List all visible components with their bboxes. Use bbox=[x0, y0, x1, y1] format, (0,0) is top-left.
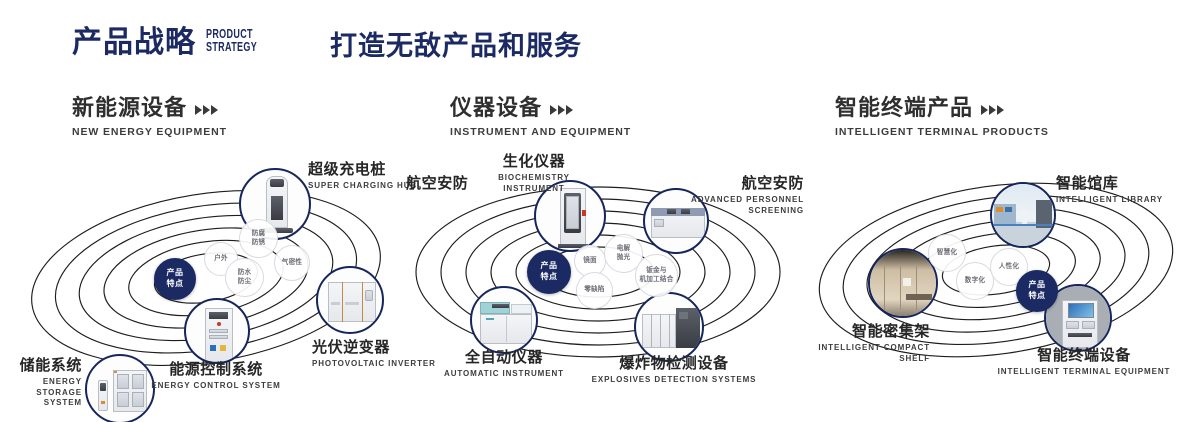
node-label-en: BIOCHEMISTRY INSTRUMENT bbox=[474, 173, 594, 195]
feature-line2: 特点 bbox=[541, 272, 558, 283]
node-circle-energy-control-system[interactable] bbox=[184, 298, 250, 364]
section-heading-new-energy: 新能源设备 NEW ENERGY EQUIPMENT bbox=[72, 97, 227, 138]
feature-line2: 抛光 bbox=[617, 254, 631, 263]
feature-line1: 钣金与 bbox=[646, 267, 666, 276]
panel-instrument-and-equipment: 航空安防 生化仪器 BIOCHEMISTRY INSTRUMENT bbox=[398, 150, 798, 416]
node-label-cn: 航空安防 bbox=[674, 176, 804, 193]
node-label-cn: 爆炸物检测设备 bbox=[584, 356, 764, 373]
product-photo-automatic-instrument bbox=[472, 288, 536, 352]
node-label-intelligent-terminal-equipment: 智能终端设备 INTELLIGENT TERMINAL EQUIPMENT bbox=[994, 348, 1174, 378]
section-heading-instrument: 仪器设备 INSTRUMENT AND EQUIPMENT bbox=[450, 97, 631, 138]
node-label-cn: 储能系统 bbox=[0, 358, 82, 375]
section-heading-en: INSTRUMENT AND EQUIPMENT bbox=[450, 126, 631, 138]
node-label-cn: 航空安防 bbox=[406, 176, 468, 193]
feature-line1: 防水 bbox=[238, 269, 252, 278]
panel-intelligent-terminal-products: 智能馆库 INTELLIGENT LIBRARY 智能密集架 INTELLIGE… bbox=[800, 150, 1200, 416]
feature-line1: 零缺陷 bbox=[584, 286, 604, 295]
feature-line1: 人性化 bbox=[999, 263, 1019, 272]
node-circle-intelligent-library[interactable] bbox=[990, 182, 1056, 248]
node-label-cn: 智能密集架 bbox=[790, 324, 930, 341]
node-circle-automatic-instrument[interactable] bbox=[470, 286, 538, 354]
node-label-en: INTELLIGENT LIBRARY bbox=[1056, 195, 1163, 206]
feature-bubble-primary[interactable]: 产品 特点 bbox=[1016, 270, 1058, 312]
product-photo-intelligent-library bbox=[992, 184, 1054, 246]
node-label-en: ENERGY CONTROL SYSTEM bbox=[126, 381, 306, 392]
node-label-en: ADVANCED PERSONNEL SCREENING bbox=[674, 195, 804, 217]
node-label-cn: 生化仪器 bbox=[474, 154, 594, 171]
section-heading-cn: 仪器设备 bbox=[450, 97, 542, 119]
feature-line1: 产品 bbox=[167, 268, 184, 279]
feature-bubble-airtightness[interactable]: 气密性 bbox=[274, 245, 310, 281]
feature-bubble-sheet-metal-machining[interactable]: 钣金与 机加工结合 bbox=[635, 254, 678, 297]
node-label-cn: 智能馆库 bbox=[1056, 176, 1163, 193]
feature-bubble-digitalization[interactable]: 数字化 bbox=[956, 262, 994, 300]
product-photo-photovoltaic-inverter bbox=[318, 268, 382, 332]
node-label-intelligent-library: 智能馆库 INTELLIGENT LIBRARY bbox=[1056, 176, 1163, 206]
section-heading-en: NEW ENERGY EQUIPMENT bbox=[72, 126, 227, 138]
node-label-en: EXPLOSIVES DETECTION SYSTEMS bbox=[584, 375, 764, 386]
feature-bubble-waterproof-dustproof[interactable]: 防水 防尘 bbox=[225, 258, 264, 297]
feature-line2: 特点 bbox=[1029, 291, 1046, 302]
product-photo-explosives-detection-systems bbox=[636, 294, 702, 360]
node-circle-intelligent-compact-shelf[interactable] bbox=[868, 248, 938, 318]
product-photo-energy-control-system bbox=[186, 300, 248, 362]
node-label-en: INTELLIGENT COMPACT SHELF bbox=[790, 343, 930, 365]
feature-line1: 户外 bbox=[214, 255, 228, 264]
feature-line1: 防腐 bbox=[252, 230, 266, 239]
section-heading-cn: 智能终端产品 bbox=[835, 97, 973, 119]
node-label-automatic-instrument: 全自动仪器 AUTOMATIC INSTRUMENT bbox=[414, 350, 594, 380]
feature-line1: 电解 bbox=[617, 245, 631, 254]
chevron-right-icon bbox=[981, 102, 1004, 115]
node-label-en: AUTOMATIC INSTRUMENT bbox=[414, 369, 594, 380]
chevron-right-icon bbox=[195, 102, 218, 115]
feature-bubble-anti-corrosion[interactable]: 防腐 防锈 bbox=[239, 219, 278, 258]
feature-line2: 防尘 bbox=[238, 278, 252, 287]
node-circle-photovoltaic-inverter[interactable] bbox=[316, 266, 384, 334]
feature-line1: 镜面 bbox=[583, 257, 597, 266]
feature-bubble-zero-defect[interactable]: 零缺陷 bbox=[576, 272, 613, 309]
feature-line1: 数字化 bbox=[965, 277, 985, 286]
section-heading-en: INTELLIGENT TERMINAL PRODUCTS bbox=[835, 126, 1049, 138]
node-label-explosives-detection-systems: 爆炸物检测设备 EXPLOSIVES DETECTION SYSTEMS bbox=[584, 356, 764, 386]
poster-tagline: 打造无敌产品和服务 bbox=[330, 33, 582, 60]
feature-line1: 气密性 bbox=[282, 259, 302, 268]
feature-bubble-intelligence[interactable]: 智慧化 bbox=[928, 234, 966, 272]
node-label-cn: 能源控制系统 bbox=[126, 362, 306, 379]
poster-canvas: 产品战略 PRODUCT STRATEGY 打造无敌产品和服务 新能源设备 NE… bbox=[0, 0, 1200, 422]
feature-bubble-primary[interactable]: 产品 特点 bbox=[527, 250, 571, 294]
poster-title-cn: 产品战略 bbox=[72, 28, 196, 58]
panel-new-energy-equipment: 储能系统 ENERGY STORAGE SYSTEM 超级充电桩 SUPER C… bbox=[6, 150, 406, 416]
node-label-biochemistry-instrument: 生化仪器 BIOCHEMISTRY INSTRUMENT bbox=[474, 154, 594, 194]
poster-title-en: PRODUCT STRATEGY bbox=[206, 29, 257, 58]
node-label-intelligent-compact-shelf: 智能密集架 INTELLIGENT COMPACT SHELF bbox=[790, 324, 930, 364]
feature-line1: 产品 bbox=[1029, 280, 1046, 291]
node-label-advanced-personnel-screening: 航空安防 ADVANCED PERSONNEL SCREENING bbox=[674, 176, 804, 216]
node-label-energy-control-system: 能源控制系统 ENERGY CONTROL SYSTEM bbox=[126, 362, 306, 392]
feature-line1: 产品 bbox=[541, 261, 558, 272]
feature-bubble-primary[interactable]: 产品 特点 bbox=[154, 258, 196, 300]
node-label-en: INTELLIGENT TERMINAL EQUIPMENT bbox=[994, 367, 1174, 378]
section-heading-intelligent: 智能终端产品 INTELLIGENT TERMINAL PRODUCTS bbox=[835, 97, 1049, 138]
poster-title: 产品战略 PRODUCT STRATEGY bbox=[72, 28, 268, 58]
node-label-aviation-security-left: 航空安防 bbox=[406, 176, 468, 193]
feature-line2: 特点 bbox=[167, 279, 184, 290]
poster-title-en-line2: STRATEGY bbox=[206, 41, 257, 54]
feature-line1: 智慧化 bbox=[937, 249, 957, 258]
node-label-cn: 智能终端设备 bbox=[994, 348, 1174, 365]
node-circle-explosives-detection-systems[interactable] bbox=[634, 292, 704, 362]
chevron-right-icon bbox=[550, 102, 573, 115]
product-photo-intelligent-compact-shelf bbox=[870, 250, 936, 316]
node-label-cn: 全自动仪器 bbox=[414, 350, 594, 367]
feature-line2: 防锈 bbox=[252, 239, 266, 248]
feature-line2: 机加工结合 bbox=[640, 276, 674, 285]
section-heading-cn: 新能源设备 bbox=[72, 97, 187, 119]
node-label-en: ENERGY STORAGE SYSTEM bbox=[0, 377, 82, 409]
node-label-energy-storage-system: 储能系统 ENERGY STORAGE SYSTEM bbox=[0, 358, 82, 409]
